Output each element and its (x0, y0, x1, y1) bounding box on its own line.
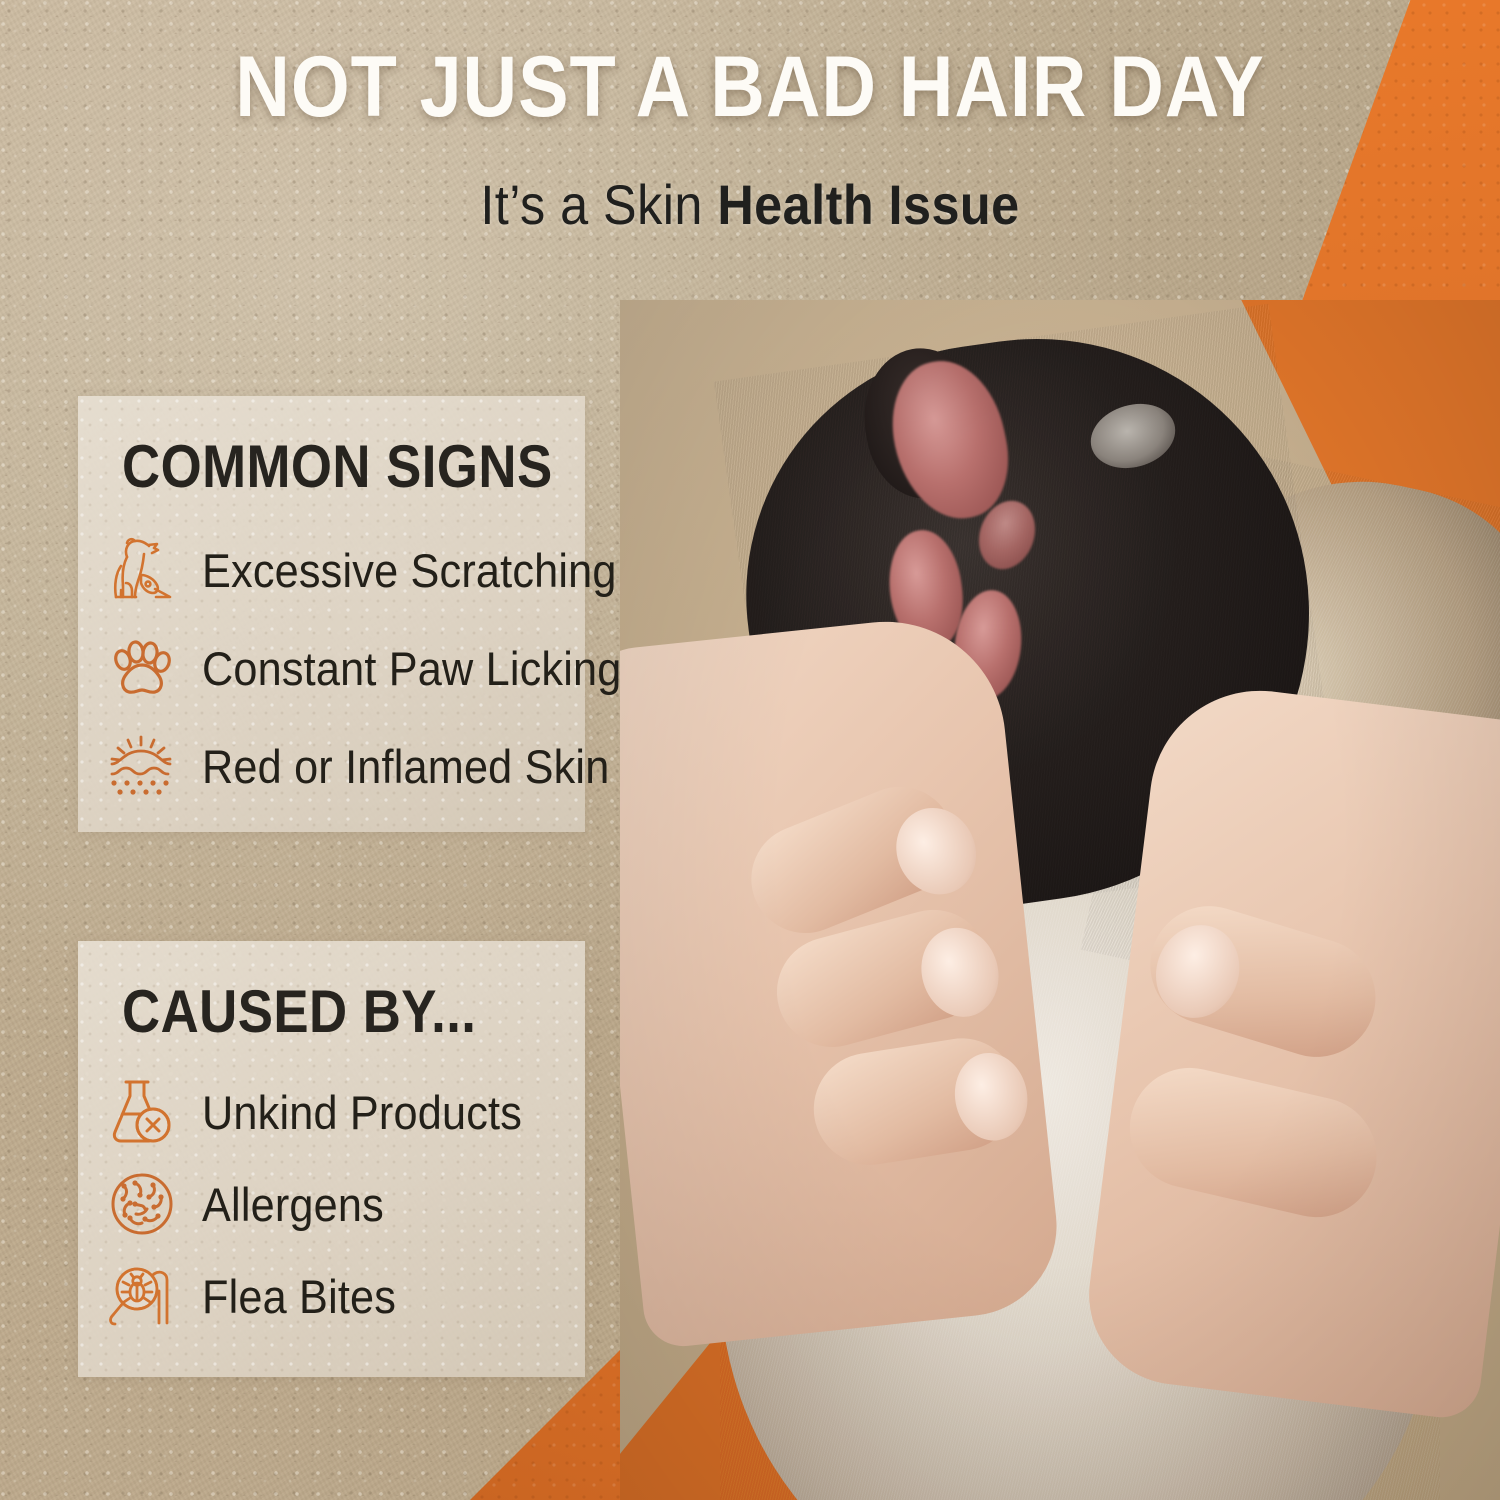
subtitle-emphasis: Health Issue (717, 173, 1019, 236)
list-item-label: Red or Inflamed Skin (202, 739, 609, 794)
list-item-label: Excessive Scratching (202, 543, 617, 598)
card-common-signs: COMMON SIGNS (78, 396, 585, 832)
list-item[interactable]: Excessive Scratching (78, 521, 585, 619)
inflamed-skin-icon (106, 730, 178, 802)
poster-root: NOT JUST A BAD HAIR DAY It’s a Skin Heal… (0, 0, 1500, 1500)
allergens-microbes-icon (106, 1168, 178, 1240)
photo-vignette (620, 300, 1500, 1500)
subtitle-prefix: It’s a Skin (480, 173, 717, 236)
list-item-label: Allergens (202, 1177, 384, 1232)
list-item-label: Flea Bites (202, 1269, 396, 1324)
flask-prohibited-icon (106, 1076, 178, 1148)
page-title: NOT JUST A BAD HAIR DAY (90, 44, 1410, 132)
list-item[interactable]: Allergens (78, 1158, 585, 1250)
list-item[interactable]: Flea Bites (78, 1250, 585, 1342)
paw-print-icon (106, 632, 178, 704)
list-item[interactable]: Unkind Products (78, 1066, 585, 1158)
list-item[interactable]: Red or Inflamed Skin (78, 717, 585, 815)
card-item-list: Unkind Products (78, 1066, 585, 1342)
list-item-label: Constant Paw Licking (202, 641, 621, 696)
card-title: CAUSED BY... (122, 977, 529, 1046)
card-item-list: Excessive Scratching Constant Paw Lickin… (78, 521, 585, 815)
list-item-label: Unkind Products (202, 1085, 522, 1140)
dog-photo (620, 300, 1500, 1500)
dog-scratching-icon (106, 534, 178, 606)
list-item[interactable]: Constant Paw Licking (78, 619, 585, 717)
page-subtitle: It’s a Skin Health Issue (75, 172, 1425, 237)
flea-magnifier-icon (106, 1260, 178, 1332)
card-title: COMMON SIGNS (122, 432, 529, 501)
card-caused-by: CAUSED BY... Unkind Products (78, 941, 585, 1377)
